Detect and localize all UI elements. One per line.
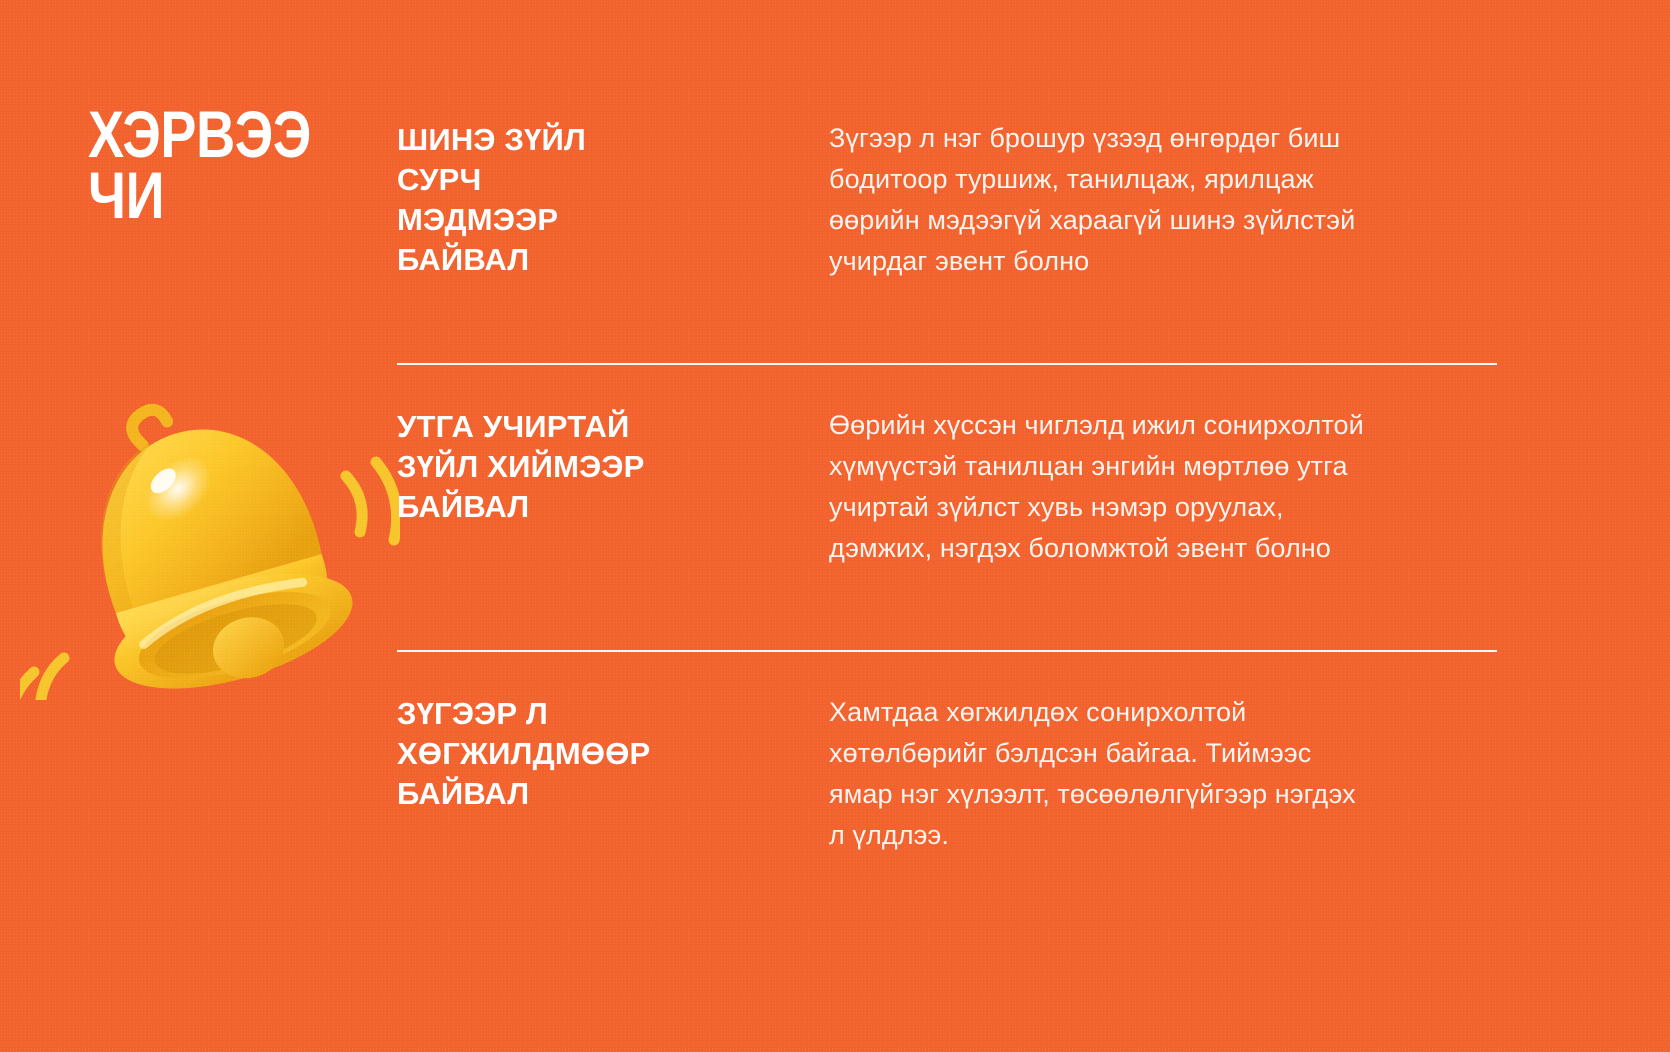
content-row: УТГА УЧИРТАЙ ЗҮЙЛ ХИЙМЭЭР БАЙВАЛ Өөрийн … [397, 405, 1517, 569]
slide-canvas: ХЭРВЭЭ ЧИ [0, 0, 1670, 1052]
page-title-text: ХЭРВЭЭ ЧИ [88, 104, 326, 225]
row-body: Зүгээр л нэг брошур үзээд өнгөрдөг биш б… [829, 118, 1517, 282]
bell-illustration [20, 370, 400, 700]
row-body: Өөрийн хүссэн чиглэлд ижил сонирхолтой х… [829, 405, 1517, 569]
content-row: ЗҮГЭЭР Л ХӨГЖИЛДМӨӨР БАЙВАЛ Хамтдаа хөгж… [397, 692, 1517, 856]
page-title: ХЭРВЭЭ ЧИ [88, 104, 378, 225]
row-heading: ЗҮГЭЭР Л ХӨГЖИЛДМӨӨР БАЙВАЛ [397, 692, 829, 856]
section-divider [397, 363, 1497, 365]
section-divider [397, 650, 1497, 652]
row-body: Хамтдаа хөгжилдөх сонирхолтой хөтөлбөрий… [829, 692, 1517, 856]
row-heading: УТГА УЧИРТАЙ ЗҮЙЛ ХИЙМЭЭР БАЙВАЛ [397, 405, 829, 569]
content-rows: ШИНЭ ЗҮЙЛ СУРЧ МЭДМЭЭР БАЙВАЛ Зүгээр л н… [397, 0, 1517, 1052]
row-heading: ШИНЭ ЗҮЙЛ СУРЧ МЭДМЭЭР БАЙВАЛ [397, 118, 829, 282]
content-row: ШИНЭ ЗҮЙЛ СУРЧ МЭДМЭЭР БАЙВАЛ Зүгээр л н… [397, 118, 1517, 282]
